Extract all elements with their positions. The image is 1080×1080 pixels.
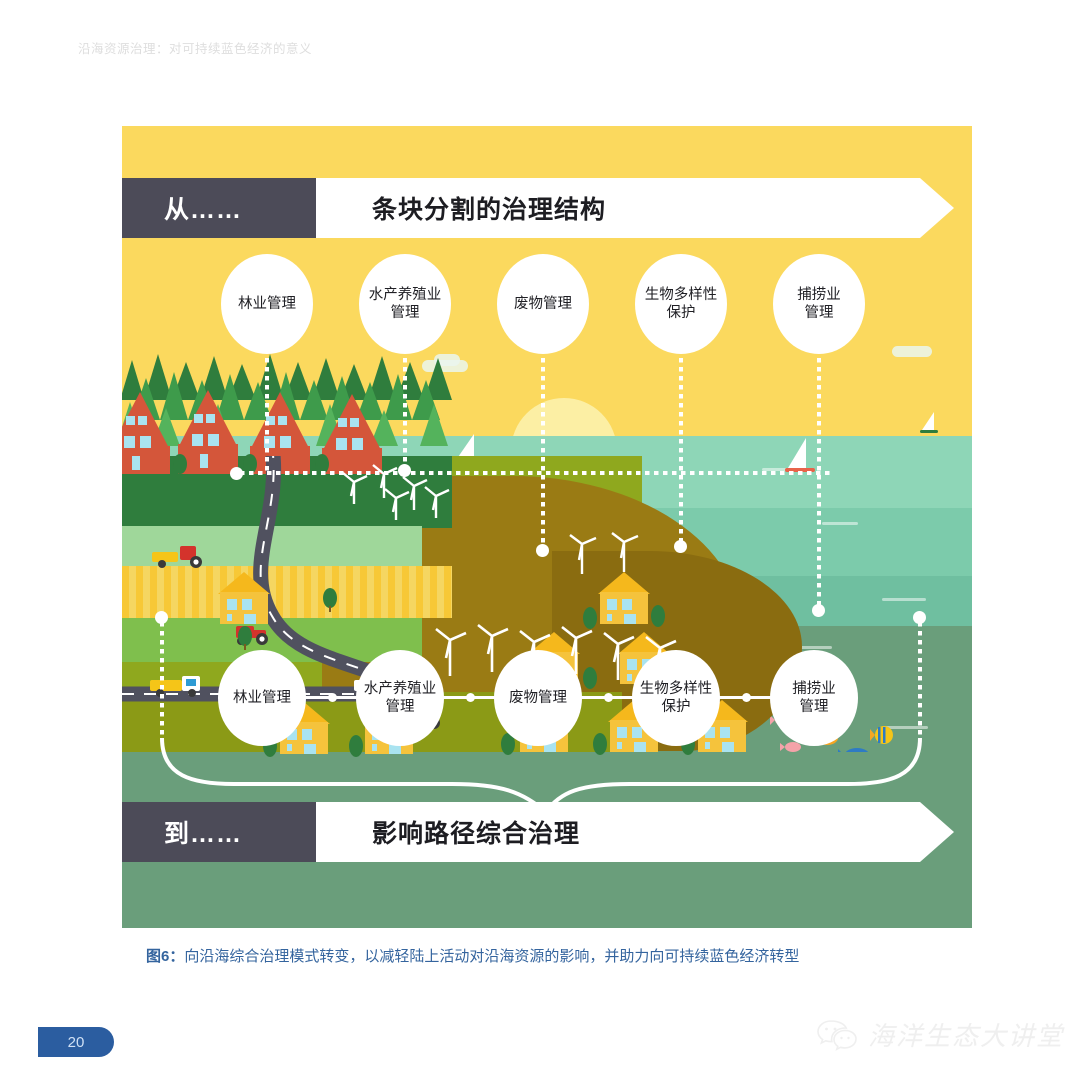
top-node-waste[interactable]: 废物管理 [497, 254, 589, 354]
wave-line [882, 598, 926, 601]
bottom-node-waste[interactable]: 废物管理 [494, 650, 582, 746]
watermark: 海洋生态大讲堂 [816, 1016, 1064, 1053]
top-node-label: 生物多样性保护 [645, 286, 718, 322]
banner-to-title-label: 影响路径综合治理 [372, 814, 580, 850]
link-dot [742, 693, 751, 702]
banner-from-tag-label: 从…… [164, 190, 242, 226]
bottom-node-label: 废物管理 [509, 689, 567, 707]
wechat-icon [816, 1018, 858, 1052]
top-node-label: 林业管理 [238, 295, 296, 313]
top-node-label: 捕捞业管理 [797, 286, 841, 322]
figure-caption-text: 向沿海综合治理模式转变，以减轻陆上活动对沿海资源的影响，并助力向可持续蓝色经济转… [184, 948, 799, 965]
top-node-label: 水产养殖业管理 [369, 286, 442, 322]
connector-line-forestry [265, 349, 269, 473]
page-number-tab: 20 [38, 1027, 114, 1057]
wind-turbine-cluster [562, 522, 672, 587]
document-page: 沿海资源治理：对可持续蓝色经济的意义 [0, 0, 1080, 1080]
figure-panel: 林业管理 水产养殖业管理 废物管理 生物多样性保护 捕捞业管理 林业管理 水产养… [122, 126, 972, 928]
tractor-icon [152, 544, 206, 573]
banner-to-tag: 到…… [122, 802, 316, 862]
connector-node [536, 544, 549, 557]
bottom-node-forestry[interactable]: 林业管理 [218, 650, 306, 746]
top-node-forestry[interactable]: 林业管理 [221, 254, 313, 354]
connector-line-biodiversity [679, 349, 683, 544]
connector-line-fisheries [817, 349, 821, 609]
banner-from: 从…… 条块分割的治理结构 [122, 178, 920, 238]
figure-caption: 图6：向沿海综合治理模式转变，以减轻陆上活动对沿海资源的影响，并助力向可持续蓝色… [146, 946, 976, 969]
bottom-node-label: 水产养殖业管理 [364, 680, 437, 716]
link-dot [466, 693, 475, 702]
page-number: 20 [68, 1034, 85, 1051]
top-node-fisheries[interactable]: 捕捞业管理 [773, 254, 865, 354]
running-header: 沿海资源治理：对可持续蓝色经济的意义 [78, 38, 312, 57]
connector-node [398, 464, 411, 477]
bottom-node-fisheries[interactable]: 捕捞业管理 [770, 650, 858, 746]
top-node-biodiversity[interactable]: 生物多样性保护 [635, 254, 727, 354]
wind-turbine-cluster [340, 452, 460, 527]
bottom-node-biodiversity[interactable]: 生物多样性保护 [632, 650, 720, 746]
watermark-text: 海洋生态大讲堂 [868, 1016, 1064, 1053]
wave-line [822, 522, 858, 525]
sailboat-icon [918, 410, 944, 443]
connector-line-horizontal [240, 471, 830, 475]
link-dot [328, 693, 337, 702]
connector-node [674, 540, 687, 553]
banner-to-tag-label: 到…… [164, 814, 242, 850]
banner-to-title: 影响路径综合治理 [316, 802, 920, 862]
cloud-icon [892, 346, 932, 357]
banner-from-tag: 从…… [122, 178, 316, 238]
bottom-node-label: 生物多样性保护 [640, 680, 713, 716]
banner-from-title: 条块分割的治理结构 [316, 178, 920, 238]
bottom-node-aquaculture[interactable]: 水产养殖业管理 [356, 650, 444, 746]
top-node-aquaculture[interactable]: 水产养殖业管理 [359, 254, 451, 354]
bottom-node-label: 林业管理 [233, 689, 291, 707]
connector-line-aquaculture [403, 349, 407, 471]
bottom-node-label: 捕捞业管理 [792, 680, 836, 716]
banner-to: 到…… 影响路径综合治理 [122, 802, 920, 862]
link-dot [604, 693, 613, 702]
top-node-label: 废物管理 [514, 295, 572, 313]
figure-caption-prefix: 图6： [146, 948, 184, 965]
banner-from-title-label: 条块分割的治理结构 [372, 190, 606, 226]
connector-line-waste [541, 349, 545, 549]
